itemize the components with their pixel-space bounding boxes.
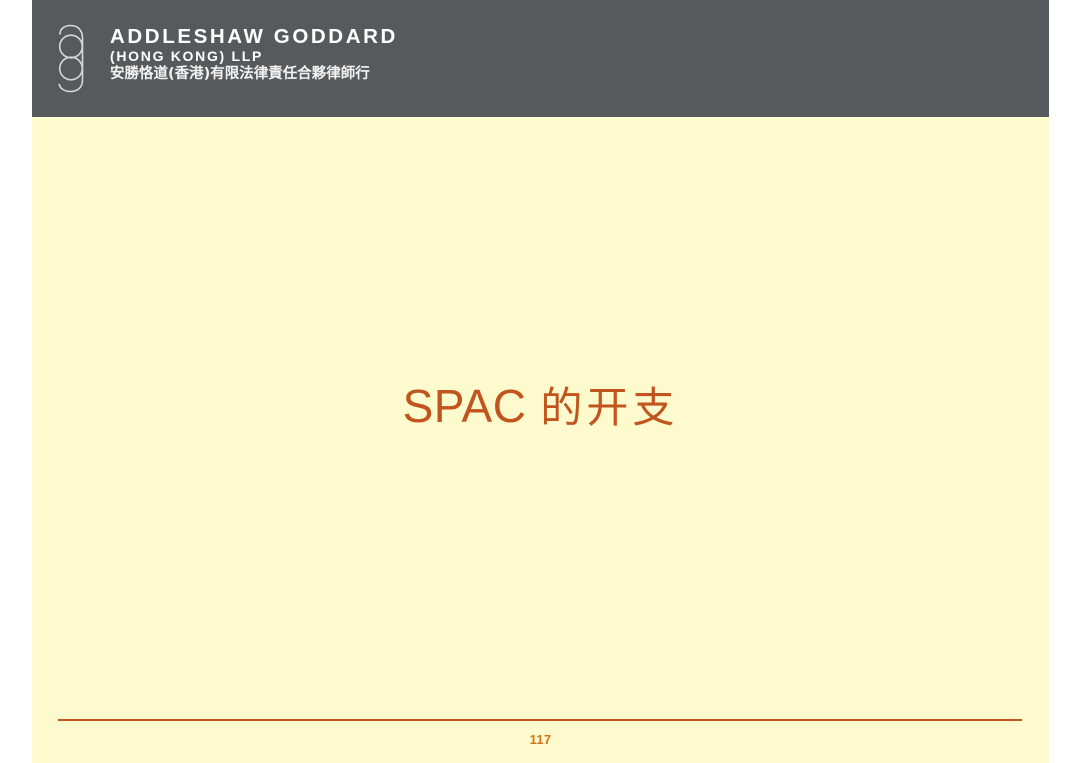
slide-title: SPAC的开支 — [403, 381, 679, 432]
slide-header-band: ADDLESHAW GODDARD (HONG KONG) LLP 安勝恪道(香… — [32, 0, 1049, 117]
firm-name-primary: ADDLESHAW GODDARD — [110, 26, 398, 48]
firm-logo-text: ADDLESHAW GODDARD (HONG KONG) LLP 安勝恪道(香… — [110, 21, 398, 84]
slide-title-chinese: 的开支 — [526, 383, 678, 432]
footer-divider-rule — [58, 719, 1022, 721]
presentation-slide: ADDLESHAW GODDARD (HONG KONG) LLP 安勝恪道(香… — [0, 0, 1080, 763]
slide-title-container: SPAC的开支 — [32, 117, 1049, 707]
slide-content-area: SPAC的开支 117 — [32, 117, 1049, 763]
ag-monogram-logo-icon — [54, 21, 98, 95]
page-number: 117 — [32, 732, 1049, 747]
firm-logo: ADDLESHAW GODDARD (HONG KONG) LLP 安勝恪道(香… — [54, 21, 398, 95]
firm-name-entity: (HONG KONG) LLP — [110, 48, 398, 65]
firm-name-chinese: 安勝恪道(香港)有限法律責任合夥律師行 — [110, 65, 398, 84]
slide-title-latin: SPAC — [403, 380, 527, 432]
